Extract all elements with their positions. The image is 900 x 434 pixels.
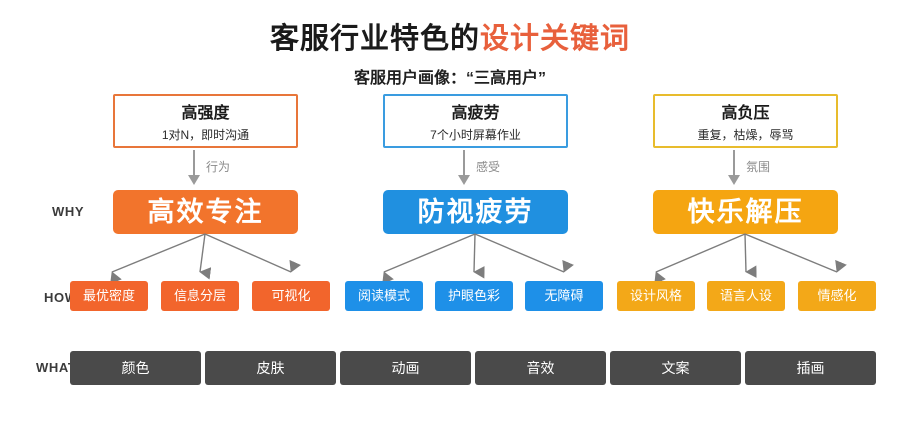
page-title-accent: 设计关键词: [480, 23, 630, 55]
how-chip-design-style: 设计风格: [617, 281, 695, 311]
persona-box-high-fatigue: 高疲劳 7个小时屏幕作业: [383, 94, 568, 148]
persona-description: 重复，枯燥，辱骂: [655, 126, 836, 144]
what-chip-illustration: 插画: [745, 351, 876, 385]
persona-title: 高强度: [115, 104, 296, 124]
persona-description: 1对N，即时沟通: [115, 126, 296, 144]
what-chip-animation: 动画: [340, 351, 471, 385]
how-chip-language-persona: 语言人设: [707, 281, 785, 311]
why-box-anti-eye-fatigue: 防视疲劳: [383, 190, 568, 234]
persona-box-high-intensity: 高强度 1对N，即时沟通: [113, 94, 298, 148]
page-title: 客服行业特色的设计关键词: [0, 15, 900, 57]
what-chip-skin: 皮肤: [205, 351, 336, 385]
persona-title: 高疲劳: [385, 104, 566, 124]
page-title-main: 客服行业特色的: [270, 23, 480, 55]
why-box-efficient-focus: 高效专注: [113, 190, 298, 234]
link-label-feeling: 感受: [476, 158, 500, 175]
what-chip-color: 颜色: [70, 351, 201, 385]
link-label-atmosphere: 氛围: [746, 158, 770, 175]
how-chip-reading-mode: 阅读模式: [345, 281, 423, 311]
how-chip-eye-care-color: 护眼色彩: [435, 281, 513, 311]
how-chip-emotionalization: 情感化: [798, 281, 876, 311]
persona-title: 高负压: [655, 104, 836, 124]
how-chip-accessibility: 无障碍: [525, 281, 603, 311]
page-subtitle: 客服用户画像：“三高用户”: [0, 64, 900, 88]
how-chip-visualization: 可视化: [252, 281, 330, 311]
how-chip-info-layering: 信息分层: [161, 281, 239, 311]
how-chip-optimal-density: 最优密度: [70, 281, 148, 311]
what-chip-sound: 音效: [475, 351, 606, 385]
persona-description: 7个小时屏幕作业: [385, 126, 566, 144]
row-label-why: WHY: [52, 204, 84, 219]
persona-box-high-pressure: 高负压 重复，枯燥，辱骂: [653, 94, 838, 148]
why-box-happy-destress: 快乐解压: [653, 190, 838, 234]
link-label-behavior: 行为: [206, 158, 230, 175]
what-chip-copywriting: 文案: [610, 351, 741, 385]
